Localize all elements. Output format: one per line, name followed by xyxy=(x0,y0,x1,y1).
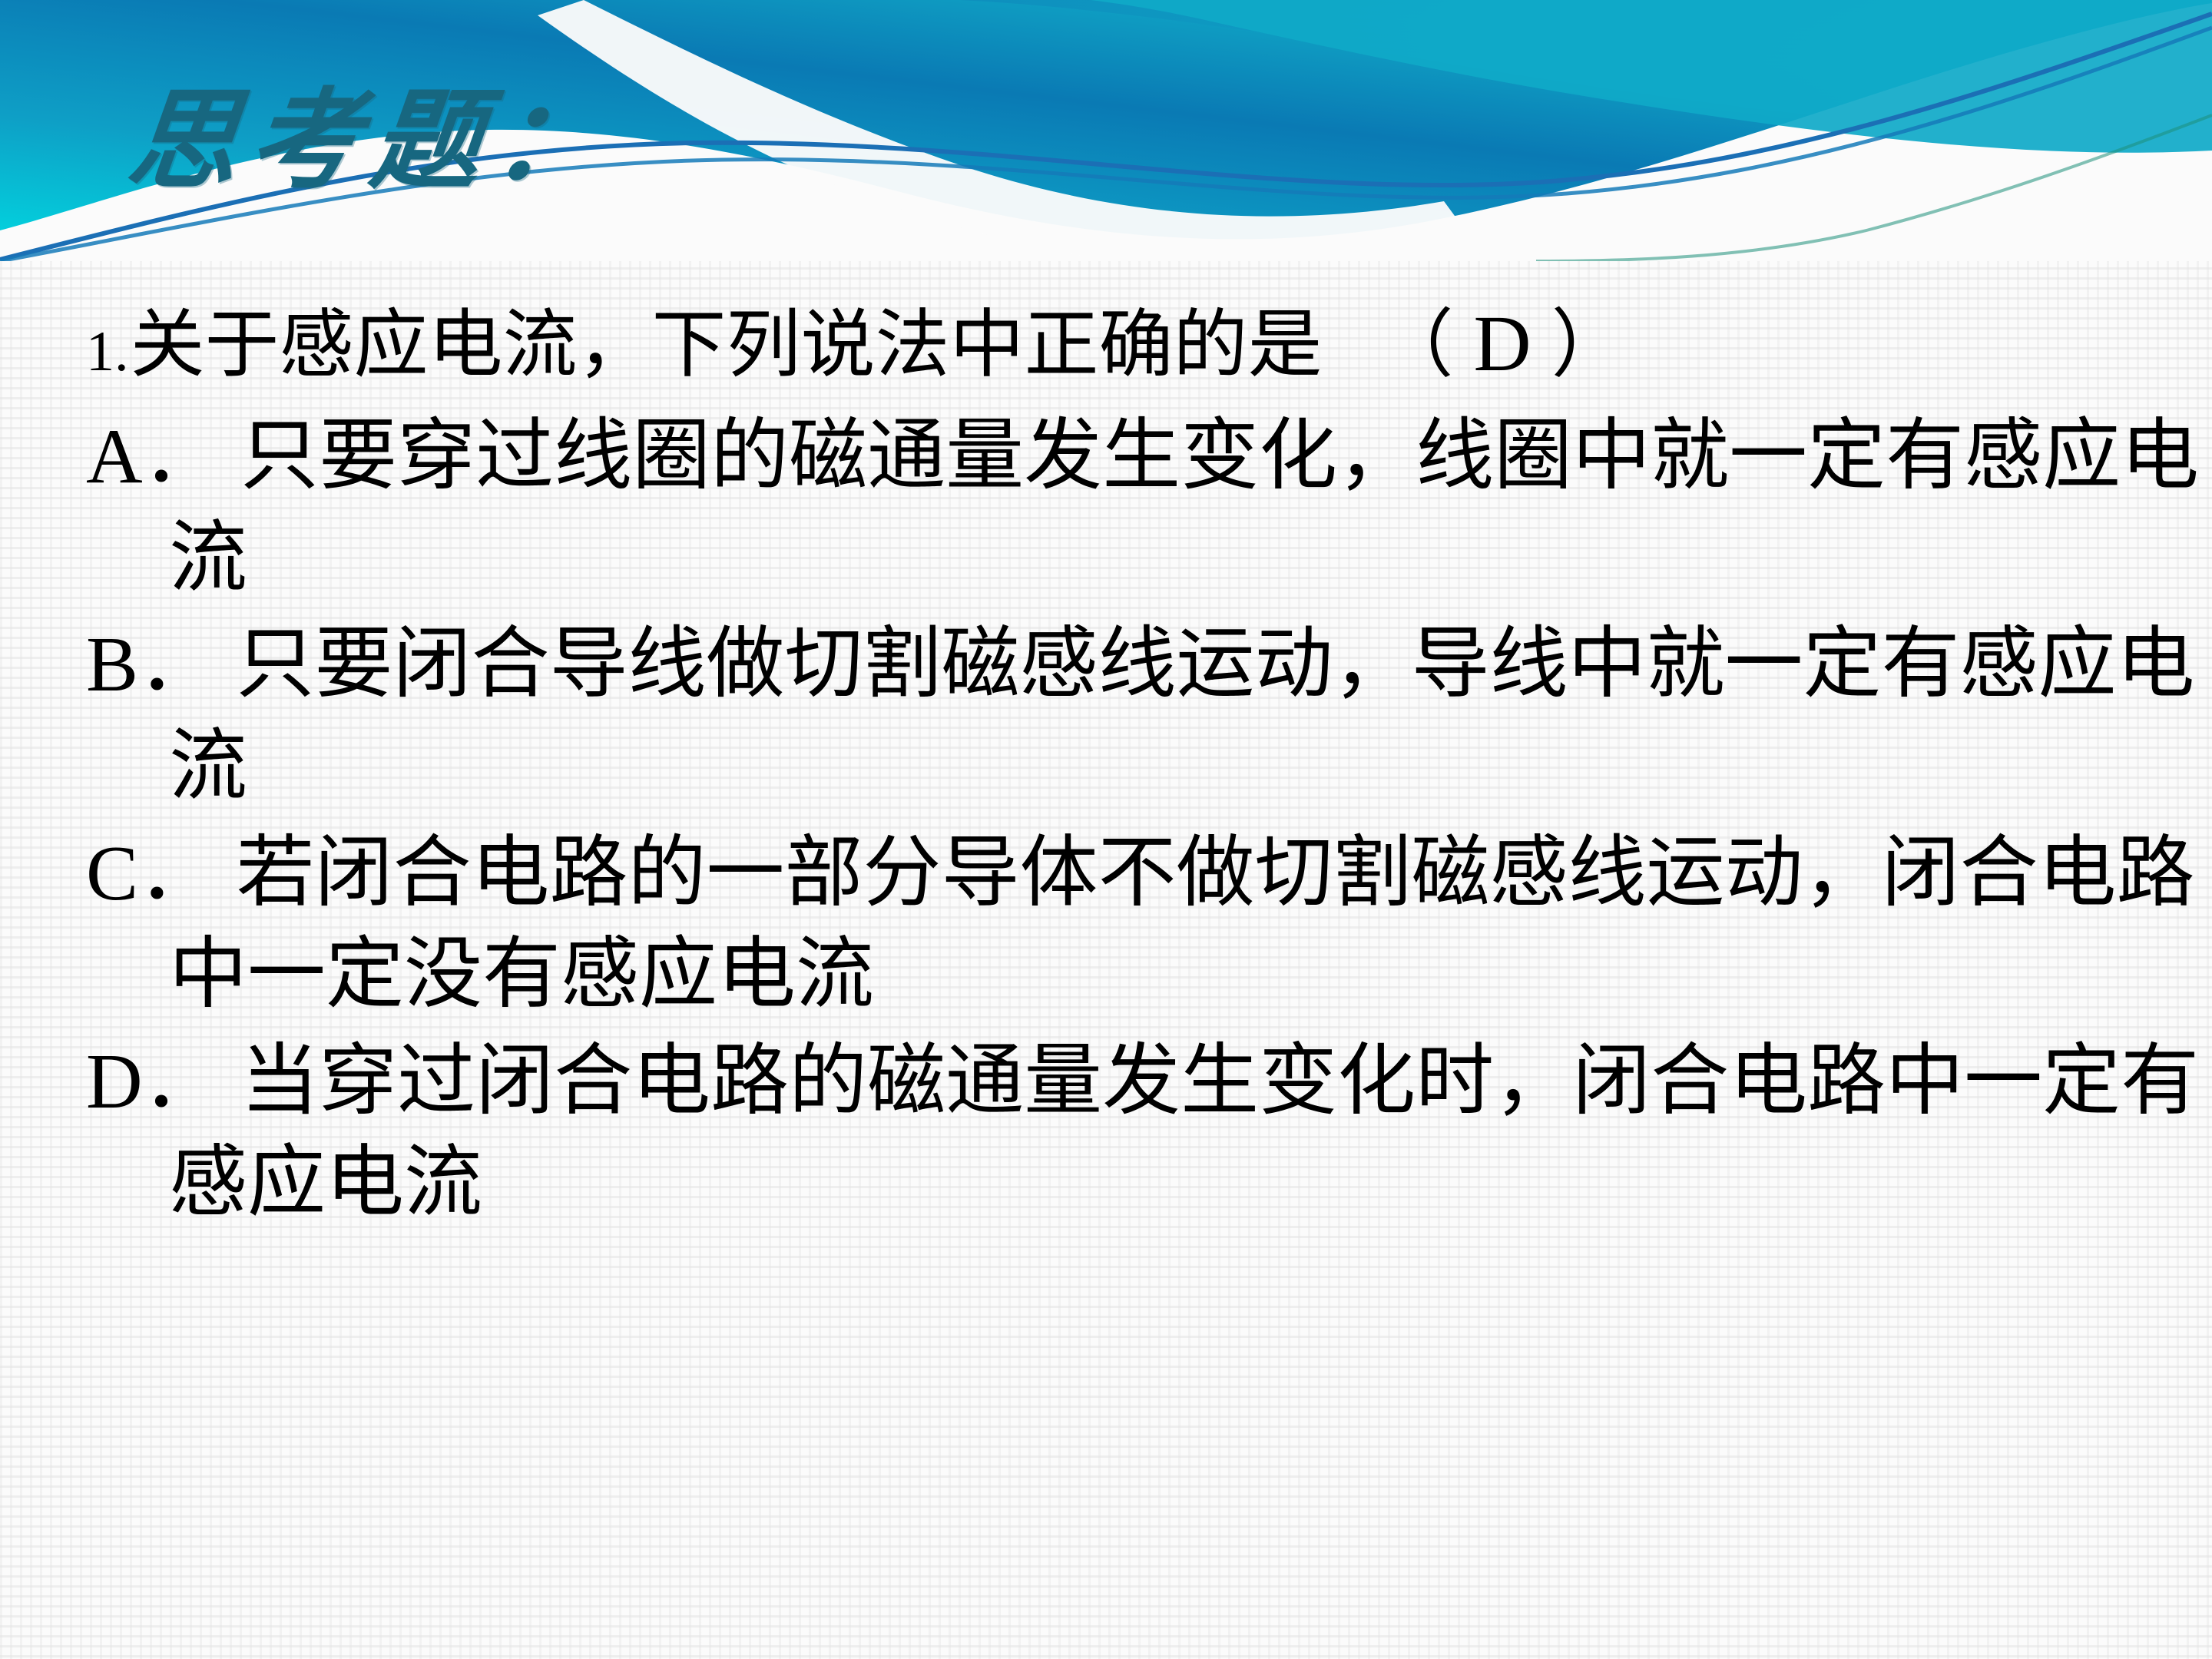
option-d-inner: D． 当穿过闭合电路的磁通量发生变化时，闭合电路中一定有感应电流 xyxy=(86,1031,2212,1235)
answer-paren-close: ） xyxy=(1551,304,1626,386)
option-item-c: C． 若闭合电路的一部分导体不做切割磁感线运动，闭合电路中一定没有感应电流 xyxy=(0,823,2212,1027)
option-b-inner: B． 只要闭合导线做切割磁感线运动，导线中就一定有感应电流 xyxy=(86,614,2212,818)
option-a-inner: A． 只要穿过线圈的磁通量发生变化，线圈中就一定有感应电流 xyxy=(86,406,2212,610)
option-d-text: 当穿过闭合电路的磁通量发生变化时，闭合电路中一定有感应电流 xyxy=(169,1038,2199,1227)
option-c-inner: C． 若闭合电路的一部分导体不做切割磁感线运动，闭合电路中一定没有感应电流 xyxy=(86,823,2212,1027)
option-list: A． 只要穿过线圈的磁通量发生变化，线圈中就一定有感应电流 B． 只要闭合导线做… xyxy=(0,406,2212,1235)
answer-value: D xyxy=(1454,300,1551,388)
option-b-letter: B xyxy=(86,621,138,708)
option-a-letter: A xyxy=(86,413,143,500)
option-b-separator: ． xyxy=(138,621,217,708)
option-d-letter: D xyxy=(86,1038,143,1125)
option-a-separator: ． xyxy=(143,413,221,500)
answer-group: （D） xyxy=(1379,304,1626,386)
option-b-text: 只要闭合导线做切割磁感线运动，导线中就一定有感应电流 xyxy=(169,621,2195,810)
question-stem-text: 关于感应电流，下列说法中正确的是 xyxy=(131,304,1323,386)
question-number: 1. xyxy=(86,320,129,383)
option-a-text: 只要穿过线圈的磁通量发生变化，线圈中就一定有感应电流 xyxy=(169,413,2199,602)
slide: 思考题： 1.关于感应电流，下列说法中正确的是（D） A． 只要穿过线圈的磁通量… xyxy=(0,0,2212,1659)
option-item-a: A． 只要穿过线圈的磁通量发生变化，线圈中就一定有感应电流 xyxy=(0,406,2212,610)
option-c-separator: ． xyxy=(138,830,217,917)
question-block: 1.关于感应电流，下列说法中正确的是（D） A． 只要穿过线圈的磁通量发生变化，… xyxy=(0,292,2212,1240)
option-item-b: B． 只要闭合导线做切割磁感线运动，导线中就一定有感应电流 xyxy=(0,614,2212,818)
option-c-letter: C xyxy=(86,830,138,917)
option-c-text: 若闭合电路的一部分导体不做切割磁感线运动，闭合电路中一定没有感应电流 xyxy=(169,830,2195,1019)
answer-paren-open: （ xyxy=(1379,304,1454,386)
page-title: 思考题： xyxy=(124,86,621,195)
option-d-separator: ． xyxy=(143,1038,221,1125)
question-stem: 1.关于感应电流，下列说法中正确的是（D） xyxy=(0,292,2212,396)
option-item-d: D． 当穿过闭合电路的磁通量发生变化时，闭合电路中一定有感应电流 xyxy=(0,1031,2212,1235)
